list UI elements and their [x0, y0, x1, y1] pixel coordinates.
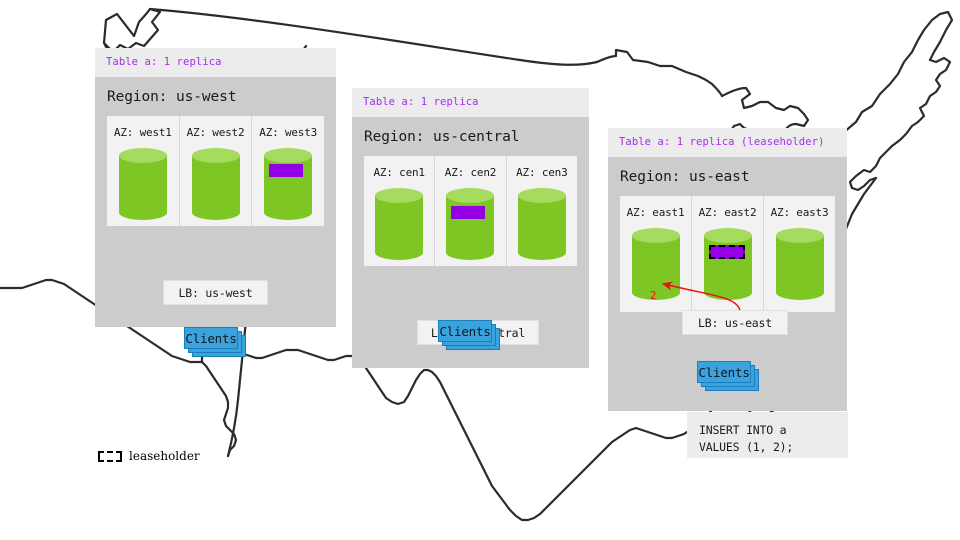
replica-marker-west3[interactable]	[269, 164, 303, 177]
sql-statement-box[interactable]: INSERT INTO a VALUES (1, 2);	[687, 412, 848, 458]
cylinder-top	[632, 228, 680, 243]
clients-button-us-central[interactable]: Clients	[438, 320, 492, 342]
region-title-us-west: Region: us-west	[95, 77, 336, 116]
diagram-canvas: Table a: 1 replica Region: us-west AZ: w…	[0, 0, 960, 540]
az-label-east3: AZ: east3	[764, 206, 835, 219]
clients-us-west[interactable]: Clients	[184, 327, 246, 357]
node-cylinder-east3[interactable]	[776, 228, 824, 300]
region-panel-us-central[interactable]: Table a: 1 replica Region: us-central AZ…	[352, 88, 589, 368]
region-header-us-east: Table a: 1 replica (leaseholder)	[608, 128, 847, 157]
clients-us-east[interactable]: Clients	[697, 361, 759, 391]
cylinder-body	[119, 155, 167, 213]
cylinder-body	[375, 195, 423, 253]
az-cell-cen3[interactable]: AZ: cen3	[507, 156, 577, 266]
clients-us-central[interactable]: Clients	[438, 320, 500, 350]
clients-button-us-west[interactable]: Clients	[184, 327, 238, 349]
node-cylinder-east2[interactable]	[704, 228, 752, 300]
legend: leaseholder	[98, 449, 200, 463]
load-balancer-us-west[interactable]: LB: us-west	[163, 280, 268, 305]
legend-label: leaseholder	[129, 449, 200, 463]
az-cell-west2[interactable]: AZ: west2	[180, 116, 253, 226]
cylinder-top	[192, 148, 240, 163]
cylinder-shape	[264, 148, 312, 220]
az-label-cen3: AZ: cen3	[507, 166, 577, 179]
replica-marker-cen2[interactable]	[451, 206, 485, 219]
cylinder-top	[264, 148, 312, 163]
az-row-us-west: AZ: west1 AZ: west2	[107, 116, 324, 226]
load-balancer-us-east[interactable]: LB: us-east	[682, 310, 788, 335]
region-panel-us-west[interactable]: Table a: 1 replica Region: us-west AZ: w…	[95, 48, 336, 327]
az-cell-cen1[interactable]: AZ: cen1	[364, 156, 435, 266]
cylinder-body	[704, 235, 752, 293]
cylinder-body	[446, 195, 494, 253]
az-label-east2: AZ: east2	[692, 206, 763, 219]
az-label-cen1: AZ: cen1	[364, 166, 434, 179]
cylinder-body	[776, 235, 824, 293]
node-cylinder-west1[interactable]	[119, 148, 167, 220]
cylinder-top	[119, 148, 167, 163]
cylinder-shape	[776, 228, 824, 300]
node-cylinder-cen1[interactable]	[375, 188, 423, 260]
cylinder-top	[446, 188, 494, 203]
cylinder-body	[632, 235, 680, 293]
region-title-us-central: Region: us-central	[352, 117, 589, 156]
cylinder-shape	[518, 188, 566, 260]
cylinder-top	[518, 188, 566, 203]
region-header-us-central: Table a: 1 replica	[352, 88, 589, 117]
az-cell-west3[interactable]: AZ: west3	[252, 116, 324, 226]
node-cylinder-cen2[interactable]	[446, 188, 494, 260]
arrow-step-label-2: 2	[650, 290, 656, 302]
az-label-cen2: AZ: cen2	[435, 166, 505, 179]
cylinder-shape	[632, 228, 680, 300]
node-cylinder-cen3[interactable]	[518, 188, 566, 260]
cylinder-shape	[119, 148, 167, 220]
node-cylinder-east1[interactable]	[632, 228, 680, 300]
leaseholder-replica-marker-east2[interactable]	[709, 245, 745, 259]
az-cell-west1[interactable]: AZ: west1	[107, 116, 180, 226]
node-cylinder-west3[interactable]	[264, 148, 312, 220]
cylinder-top	[704, 228, 752, 243]
az-cell-cen2[interactable]: AZ: cen2	[435, 156, 506, 266]
cylinder-top	[375, 188, 423, 203]
cylinder-body	[518, 195, 566, 253]
cylinder-shape	[704, 228, 752, 300]
az-label-west1: AZ: west1	[107, 126, 179, 139]
region-panel-us-east[interactable]: Table a: 1 replica (leaseholder) Region:…	[608, 128, 847, 411]
cylinder-shape	[446, 188, 494, 260]
az-cell-east2[interactable]: AZ: east2	[692, 196, 764, 312]
cylinder-shape	[192, 148, 240, 220]
az-label-west3: AZ: west3	[252, 126, 324, 139]
cylinder-top	[776, 228, 824, 243]
clients-button-us-east[interactable]: Clients	[697, 361, 751, 383]
node-cylinder-west2[interactable]	[192, 148, 240, 220]
leaseholder-legend-swatch-icon	[98, 451, 122, 462]
az-row-us-central: AZ: cen1 AZ: cen2	[364, 156, 577, 266]
az-label-east1: AZ: east1	[620, 206, 691, 219]
region-title-us-east: Region: us-east	[608, 157, 847, 196]
cylinder-body	[192, 155, 240, 213]
az-cell-east3[interactable]: AZ: east3	[764, 196, 835, 312]
region-header-us-west: Table a: 1 replica	[95, 48, 336, 77]
cylinder-shape	[375, 188, 423, 260]
az-label-west2: AZ: west2	[180, 126, 252, 139]
